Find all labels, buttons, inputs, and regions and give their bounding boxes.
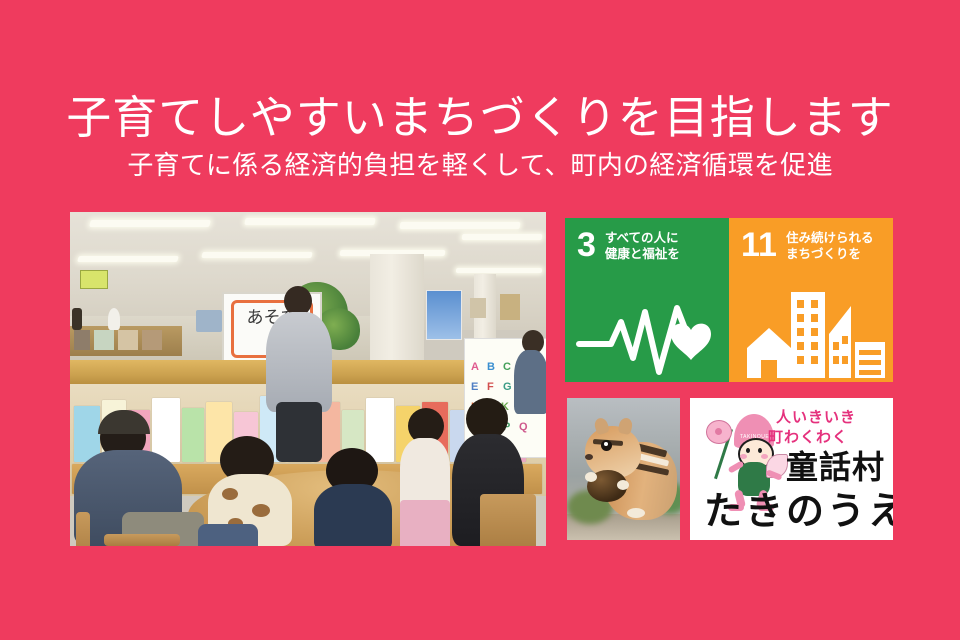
mascot-eye [758, 448, 762, 453]
chipmunk-photo [567, 398, 680, 540]
chair [480, 494, 536, 546]
city-buildings-icon [729, 286, 893, 378]
chipmunk-paw [617, 480, 629, 490]
standing-adult-legs [276, 402, 322, 462]
ceiling-light [462, 234, 543, 240]
blue-box [196, 310, 222, 332]
shelf-books [142, 330, 162, 350]
chipmunk-foot [627, 508, 645, 518]
mascot-cheek [740, 454, 747, 459]
sdg-badge-3: 3 すべての人に 健康と福祉を [565, 218, 729, 382]
sdg-11-label: 住み続けられる まちづくりを [786, 228, 874, 262]
chipmunk-paw [585, 472, 597, 482]
exit-sign-icon [80, 270, 108, 289]
logo-name-bottom: たきのうえ [704, 480, 893, 535]
town-logo: TAKINOUE 人いきいき 町わくわく 童話村 たきのうえ [690, 398, 893, 540]
ceiling-light [77, 256, 179, 262]
ceiling-light [201, 252, 312, 258]
logo-tagline-1: 人いきいき [776, 406, 856, 427]
standing-adult-body [266, 312, 332, 412]
headline-block: 子育てしやすいまちづくりを目指します 子育てに係る経済的負担を軽くして、町内の経… [0, 92, 960, 182]
sdg-badge-11: 11 住み続けられる まちづくりを [729, 218, 893, 382]
sdg-11-header: 11 住み続けられる まちづくりを [741, 228, 885, 262]
sdg-11-number: 11 [741, 228, 777, 262]
chair [76, 512, 90, 546]
white-statue [108, 308, 120, 330]
chipmunk-nose [585, 454, 593, 460]
wall-poster [500, 294, 520, 320]
background-person-body [514, 350, 546, 414]
page-subtitle: 子育てに係る経済的負担を軽くして、町内の経済循環を促進 [0, 148, 960, 182]
ceiling-light [89, 220, 211, 227]
ceiling-light [400, 222, 521, 229]
mascot-cheek [761, 454, 768, 459]
mascot-eye [746, 448, 750, 453]
page-title: 子育てしやすいまちづくりを目指します [0, 92, 960, 144]
pillar [370, 254, 424, 376]
shelf-books [74, 330, 90, 350]
child-pattern [252, 504, 270, 517]
heartbeat-heart-icon [565, 286, 729, 378]
ceiling-light [456, 268, 542, 273]
shelf-books [94, 330, 114, 350]
child-pattern [222, 488, 238, 500]
shelf-books [118, 330, 138, 350]
mascot-flower-center [715, 428, 722, 435]
ceiling-light [244, 218, 375, 225]
wall-poster [470, 298, 486, 318]
child-body [314, 484, 392, 546]
chipmunk-eye-highlight [604, 442, 608, 446]
banner-root: 子育てしやすいまちづくりを目指します 子育てに係る経済的負担を軽くして、町内の経… [0, 0, 960, 640]
dark-object [72, 308, 82, 330]
child-pants [198, 524, 258, 546]
wall-poster [426, 290, 462, 340]
chair [104, 534, 180, 546]
sdg-3-header: 3 すべての人に 健康と福祉を [577, 228, 721, 262]
library-photo: あそび A B C [70, 212, 546, 546]
sdg-3-number: 3 [577, 228, 596, 262]
girl-skirt [400, 500, 450, 546]
sdg-3-label: すべての人に 健康と福祉を [605, 228, 680, 262]
